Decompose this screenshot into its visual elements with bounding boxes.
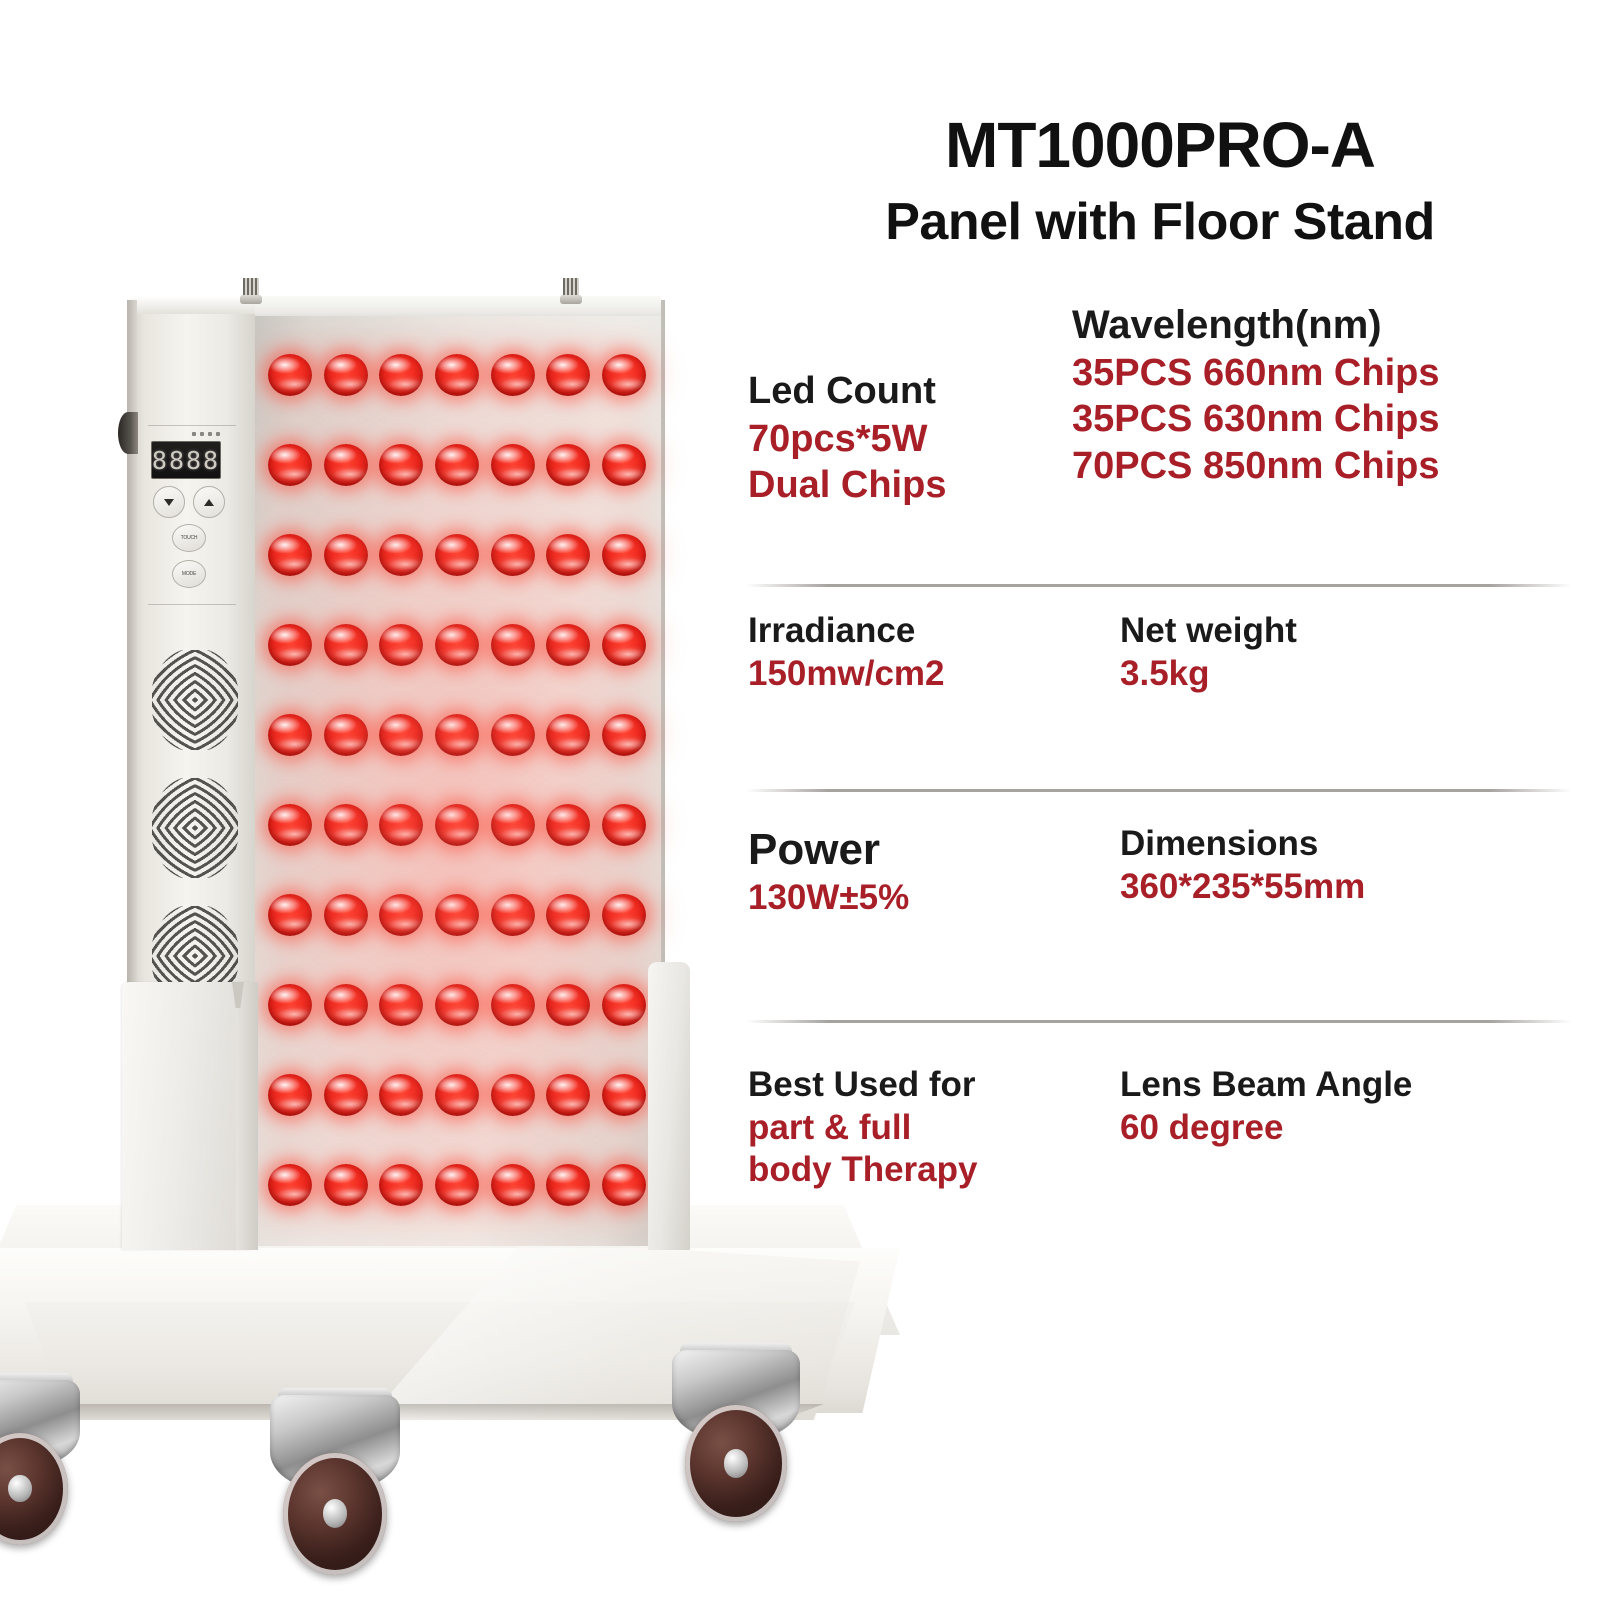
top-connector-right-icon xyxy=(560,278,582,304)
led-lamp xyxy=(268,714,312,756)
led-lamp xyxy=(324,894,368,936)
connector-pins xyxy=(243,278,259,295)
led-lamp xyxy=(546,534,590,576)
led-lamp xyxy=(602,894,646,936)
page-subtitle: Panel with Floor Stand xyxy=(720,191,1600,253)
led-lamp xyxy=(491,984,535,1026)
wavelength-value-3: 70PCS 850nm Chips xyxy=(1072,443,1439,489)
irradiance-label: Irradiance xyxy=(748,609,945,653)
caster-tire xyxy=(283,1453,387,1575)
led-lamp xyxy=(491,1074,535,1116)
panel-holder-bracket-inner xyxy=(236,982,258,1250)
led-lamp xyxy=(324,354,368,396)
fan-vent-icon xyxy=(152,778,238,878)
led-lamp xyxy=(602,984,646,1026)
beam-angle-label: Lens Beam Angle xyxy=(1120,1063,1412,1107)
connector-pins xyxy=(563,278,579,295)
increase-button[interactable] xyxy=(193,486,225,518)
led-grid xyxy=(262,330,652,1230)
led-lamp xyxy=(435,984,479,1026)
led-lamp xyxy=(546,714,590,756)
led-lamp xyxy=(268,984,312,1026)
connector-cap xyxy=(240,295,262,304)
led-lamp xyxy=(602,444,646,486)
power-value: 130W±5% xyxy=(748,877,909,920)
panel-holder-bracket-left xyxy=(122,982,252,1250)
caster-hub xyxy=(323,1499,348,1528)
vent-quadrant xyxy=(195,906,238,956)
control-panel-divider-top xyxy=(148,425,236,426)
chevron-up-icon xyxy=(204,499,214,506)
led-lamp xyxy=(435,1164,479,1206)
led-lamp xyxy=(379,894,423,936)
led-lamp xyxy=(435,444,479,486)
led-lamp xyxy=(379,984,423,1026)
digital-display: 8888 xyxy=(151,441,221,479)
led-lamp xyxy=(379,1074,423,1116)
dimensions-value: 360*235*55mm xyxy=(1120,866,1365,909)
led-lamp xyxy=(491,1164,535,1206)
led-lamp xyxy=(491,444,535,486)
led-lamp xyxy=(602,1164,646,1206)
vent-quadrant xyxy=(195,828,238,878)
led-lamp xyxy=(324,804,368,846)
spec-row-power: Power 130W±5% Dimensions 360*235*55mm xyxy=(720,792,1600,1020)
led-count-label: Led Count xyxy=(748,368,946,416)
beam-angle-value: 60 degree xyxy=(1120,1107,1412,1150)
led-lamp xyxy=(546,984,590,1026)
vent-quadrant xyxy=(152,828,195,878)
led-count-value-2: Dual Chips xyxy=(748,462,946,508)
spec-row-irradiance: Irradiance 150mw/cm2 Net weight 3.5kg xyxy=(720,587,1600,789)
device-body-top xyxy=(127,296,255,314)
led-lamp xyxy=(268,354,312,396)
best-used-label: Best Used for xyxy=(748,1063,977,1107)
wavelength-value-2: 35PCS 630nm Chips xyxy=(1072,396,1439,442)
spec-cell-wavelength: Wavelength(nm) 35PCS 660nm Chips 35PCS 6… xyxy=(1072,300,1439,489)
led-lamp xyxy=(435,1074,479,1116)
led-lamp xyxy=(602,1074,646,1116)
irradiance-value: 150mw/cm2 xyxy=(748,653,945,696)
vent-quadrant xyxy=(152,906,195,956)
led-lamp xyxy=(491,714,535,756)
vent-quadrant xyxy=(152,650,195,700)
spec-cell-lens-beam-angle: Lens Beam Angle 60 degree xyxy=(1120,1063,1412,1149)
fan-vent-icon xyxy=(152,650,238,750)
led-lamp xyxy=(268,804,312,846)
led-lamp xyxy=(602,804,646,846)
best-used-value-2: body Therapy xyxy=(748,1149,977,1192)
led-lamp xyxy=(379,354,423,396)
led-lamp xyxy=(491,534,535,576)
chevron-down-icon xyxy=(164,499,174,506)
led-lamp xyxy=(546,804,590,846)
control-panel-divider-bottom xyxy=(148,604,236,605)
spec-cell-led-count: Led Count 70pcs*5W Dual Chips xyxy=(748,368,946,508)
vent-quadrant xyxy=(195,778,238,828)
indicator-light xyxy=(208,432,212,436)
led-lamp xyxy=(435,804,479,846)
wavelength-label: Wavelength(nm) xyxy=(1072,300,1439,350)
led-lamp xyxy=(379,444,423,486)
led-lamp xyxy=(546,444,590,486)
led-lamp xyxy=(379,1164,423,1206)
led-count-value-1: 70pcs*5W xyxy=(748,416,946,462)
led-lamp xyxy=(324,1074,368,1116)
dimensions-label: Dimensions xyxy=(1120,822,1365,866)
spec-cell-dimensions: Dimensions 360*235*55mm xyxy=(1120,822,1365,908)
spec-row-usage: Best Used for part & full body Therapy L… xyxy=(720,1023,1600,1283)
net-weight-label: Net weight xyxy=(1120,609,1297,653)
led-lamp xyxy=(546,1074,590,1116)
top-connector-left-icon xyxy=(240,278,262,304)
spec-cell-best-used-for: Best Used for part & full body Therapy xyxy=(748,1063,977,1192)
vent-quadrant xyxy=(195,650,238,700)
led-lamp xyxy=(435,534,479,576)
indicator-light xyxy=(192,432,196,436)
touch-button[interactable]: TOUCH xyxy=(172,524,206,552)
vent-quadrant xyxy=(152,700,195,750)
page-title: MT1000PRO-A xyxy=(720,112,1600,179)
led-lamp xyxy=(435,624,479,666)
led-lamp xyxy=(379,534,423,576)
indicator-lights xyxy=(192,431,226,437)
led-lamp xyxy=(491,894,535,936)
net-weight-value: 3.5kg xyxy=(1120,653,1297,696)
connector-cap xyxy=(560,295,582,304)
indicator-light xyxy=(216,432,220,436)
led-lamp xyxy=(602,354,646,396)
spec-cell-power: Power 130W±5% xyxy=(748,822,909,920)
led-lamp xyxy=(602,714,646,756)
led-lamp xyxy=(268,534,312,576)
caster-wheel-center xyxy=(270,1395,400,1575)
panel-holder-bracket-right xyxy=(648,962,690,1250)
led-lamp xyxy=(324,714,368,756)
product-title-block: MT1000PRO-A Panel with Floor Stand xyxy=(720,112,1600,254)
caster-hub xyxy=(8,1475,31,1502)
led-lamp xyxy=(491,624,535,666)
spec-cell-net-weight: Net weight 3.5kg xyxy=(1120,609,1297,695)
led-lamp xyxy=(546,894,590,936)
decrease-button[interactable] xyxy=(153,486,185,518)
indicator-light xyxy=(200,432,204,436)
power-label: Power xyxy=(748,822,909,877)
led-lamp xyxy=(324,1164,368,1206)
led-lamp xyxy=(324,444,368,486)
power-port-icon xyxy=(118,412,138,454)
spec-cell-irradiance: Irradiance 150mw/cm2 xyxy=(748,609,945,695)
led-lamp xyxy=(602,534,646,576)
led-lamp xyxy=(435,354,479,396)
led-lamp xyxy=(268,624,312,666)
vent-quadrant xyxy=(152,778,195,828)
led-lamp xyxy=(491,354,535,396)
spec-row-leds: Wavelength(nm) 35PCS 660nm Chips 35PCS 6… xyxy=(720,300,1600,584)
led-lamp xyxy=(268,894,312,936)
led-lamp xyxy=(324,984,368,1026)
vent-quadrant xyxy=(195,700,238,750)
best-used-value-1: part & full xyxy=(748,1107,977,1150)
led-lamp xyxy=(268,1074,312,1116)
led-lamp xyxy=(602,624,646,666)
display-value: 8888 xyxy=(152,448,220,473)
led-lamp xyxy=(546,354,590,396)
led-lamp xyxy=(379,804,423,846)
led-lamp xyxy=(268,444,312,486)
caster-wheel-left xyxy=(0,1380,80,1545)
specification-panel: MT1000PRO-A Panel with Floor Stand Wavel… xyxy=(720,0,1600,1600)
led-lamp xyxy=(546,624,590,666)
led-lamp xyxy=(324,624,368,666)
spec-list: Wavelength(nm) 35PCS 660nm Chips 35PCS 6… xyxy=(720,300,1600,1283)
led-lamp xyxy=(379,714,423,756)
product-image: 8888 TOUCH MODE xyxy=(0,0,720,1600)
led-lamp xyxy=(491,804,535,846)
led-lamp xyxy=(268,1164,312,1206)
led-lamp xyxy=(379,624,423,666)
mode-button[interactable]: MODE xyxy=(172,560,206,588)
led-lamp xyxy=(546,1164,590,1206)
wavelength-value-1: 35PCS 660nm Chips xyxy=(1072,350,1439,396)
control-panel[interactable]: 8888 TOUCH MODE xyxy=(150,428,228,600)
led-lamp xyxy=(435,894,479,936)
led-lamp xyxy=(435,714,479,756)
led-lamp xyxy=(324,534,368,576)
